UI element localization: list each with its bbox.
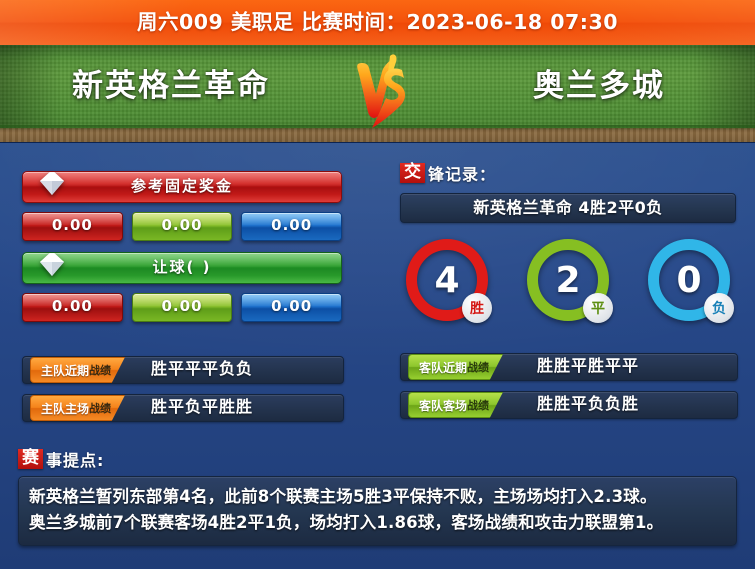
tag-small-text: 战绩 (89, 362, 111, 378)
fixed-odds-draw-value: 0.00 (133, 213, 232, 238)
diamond-gem-icon (37, 171, 67, 198)
odds-column: 参考固定奖金 0.00 0.00 0.00 (22, 171, 342, 420)
home-recent-record-row: 胜平平平负负 主队近期 战绩 (22, 356, 342, 382)
draw-badge: 平 (583, 293, 613, 323)
tag-bold-text: 主队主场 (41, 400, 89, 417)
fixed-odds-lose[interactable]: 0.00 (241, 212, 342, 241)
h2h-summary: 新英格兰革命 4胜2平0负 (400, 193, 736, 223)
fixed-odds-win[interactable]: 0.00 (22, 212, 123, 241)
tag-bold-text: 客队近期 (419, 359, 467, 376)
handicap-odds-row: 0.00 0.00 0.00 (22, 293, 342, 322)
tips-heading: 赛 事提点: (18, 448, 737, 470)
away-away-record-row: 胜胜平负负胜 客队客场 战绩 (400, 391, 736, 417)
handicap-title-bar: 让球( ) (22, 252, 342, 284)
tag-small-text: 战绩 (467, 397, 489, 413)
tips-line-1: 新英格兰暂列东部第4名，此前8个联赛主场5胜3平保持不败，主场场均打入2.3球。 (29, 484, 726, 510)
handicap-odds-lose-value: 0.00 (242, 294, 341, 319)
tips-badge: 赛 (18, 449, 43, 469)
h2h-draw-stat: 2 平 (527, 239, 609, 321)
handicap-odds-win[interactable]: 0.00 (22, 293, 123, 322)
away-away-record-tag: 客队客场 战绩 (408, 392, 503, 418)
tips-box: 新英格兰暂列东部第4名，此前8个联赛主场5胜3平保持不败，主场场均打入2.3球。… (18, 476, 737, 546)
vs-flame-icon (348, 50, 416, 132)
home-team-name: 新英格兰革命 (72, 60, 270, 105)
away-recent-record-tag: 客队近期 战绩 (408, 354, 503, 380)
fixed-odds-title-bar: 参考固定奖金 (22, 171, 342, 203)
away-team-name: 奥兰多城 (533, 60, 665, 105)
header-title: 周六009 美职足 比赛时间：2023-06-18 07:30 (0, 0, 755, 45)
h2h-column: 交 锋记录： 新英格兰革命 4胜2平0负 4 胜 2 平 0 (400, 161, 736, 417)
tag-small-text: 战绩 (89, 400, 111, 416)
lose-badge: 负 (704, 293, 734, 323)
tips-heading-text: 事提点: (46, 447, 104, 471)
handicap-odds-lose[interactable]: 0.00 (241, 293, 342, 322)
fixed-odds-draw[interactable]: 0.00 (132, 212, 233, 241)
h2h-win-stat: 4 胜 (406, 239, 488, 321)
away-recent-record-row: 胜胜平胜平平 客队近期 战绩 (400, 353, 736, 379)
h2h-lose-stat: 0 负 (648, 239, 730, 321)
match-preview-card: 周六009 美职足 比赛时间：2023-06-18 07:30 新英格兰革命 奥… (0, 0, 755, 569)
match-tips: 赛 事提点: 新英格兰暂列东部第4名，此前8个联赛主场5胜3平保持不败，主场场均… (18, 448, 737, 546)
tag-bold-text: 客队客场 (419, 397, 467, 414)
h2h-stats: 4 胜 2 平 0 负 (400, 239, 736, 321)
h2h-heading-text: 锋记录： (428, 161, 496, 185)
h2h-heading: 交 锋记录： (400, 161, 736, 185)
handicap-title: 让球( ) (23, 253, 341, 281)
handicap-odds-draw-value: 0.00 (133, 294, 232, 319)
win-badge: 胜 (462, 293, 492, 323)
handicap-odds-draw[interactable]: 0.00 (132, 293, 233, 322)
header-bar: 周六009 美职足 比赛时间：2023-06-18 07:30 (0, 0, 755, 45)
fixed-odds-row: 0.00 0.00 0.00 (22, 212, 342, 241)
home-home-record-tag: 主队主场 战绩 (30, 395, 125, 421)
home-home-record-row: 胜平负平胜胜 主队主场 战绩 (22, 394, 342, 420)
main-panel: 参考固定奖金 0.00 0.00 0.00 (0, 142, 755, 569)
fixed-odds-lose-value: 0.00 (242, 213, 341, 238)
tag-small-text: 战绩 (467, 359, 489, 375)
home-recent-record-tag: 主队近期 战绩 (30, 357, 125, 383)
tips-line-2: 奥兰多城前7个联赛客场4胜2平1负，场均打入1.86球，客场战绩和攻击力联盟第1… (29, 510, 726, 536)
fixed-odds-title: 参考固定奖金 (23, 172, 341, 200)
diamond-gem-icon (37, 252, 67, 279)
fixed-odds-win-value: 0.00 (23, 213, 122, 238)
h2h-badge: 交 (400, 163, 425, 183)
handicap-odds-win-value: 0.00 (23, 294, 122, 319)
tag-bold-text: 主队近期 (41, 362, 89, 379)
